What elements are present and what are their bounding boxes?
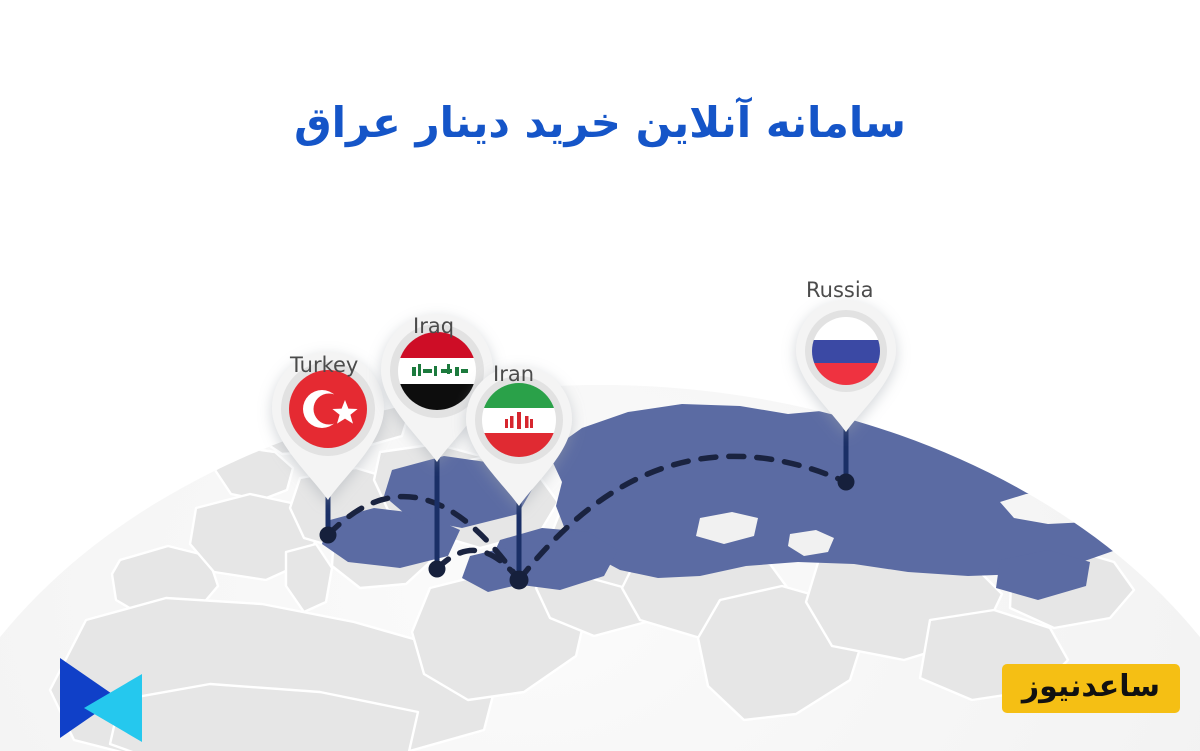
- infographic-canvas: سامانه آنلاین خرید دینار عراق: [0, 0, 1200, 751]
- pin-label-turkey: Turkey: [290, 353, 358, 377]
- pin-label-russia: Russia: [806, 278, 874, 302]
- world-map-graphic: [0, 0, 1200, 751]
- brand-logo: [44, 652, 152, 744]
- iraq-flag: [398, 332, 476, 410]
- anchor-russia: [838, 474, 855, 491]
- pin-label-iran: Iran: [493, 362, 534, 386]
- anchor-iran: [510, 571, 529, 590]
- anchor-iraq: [429, 561, 446, 578]
- watermark-badge: ساعدنیوز: [1002, 664, 1180, 713]
- pin-label-iraq: Iraq: [413, 314, 454, 338]
- turkey-flag: [289, 370, 367, 448]
- anchor-turkey: [320, 527, 337, 544]
